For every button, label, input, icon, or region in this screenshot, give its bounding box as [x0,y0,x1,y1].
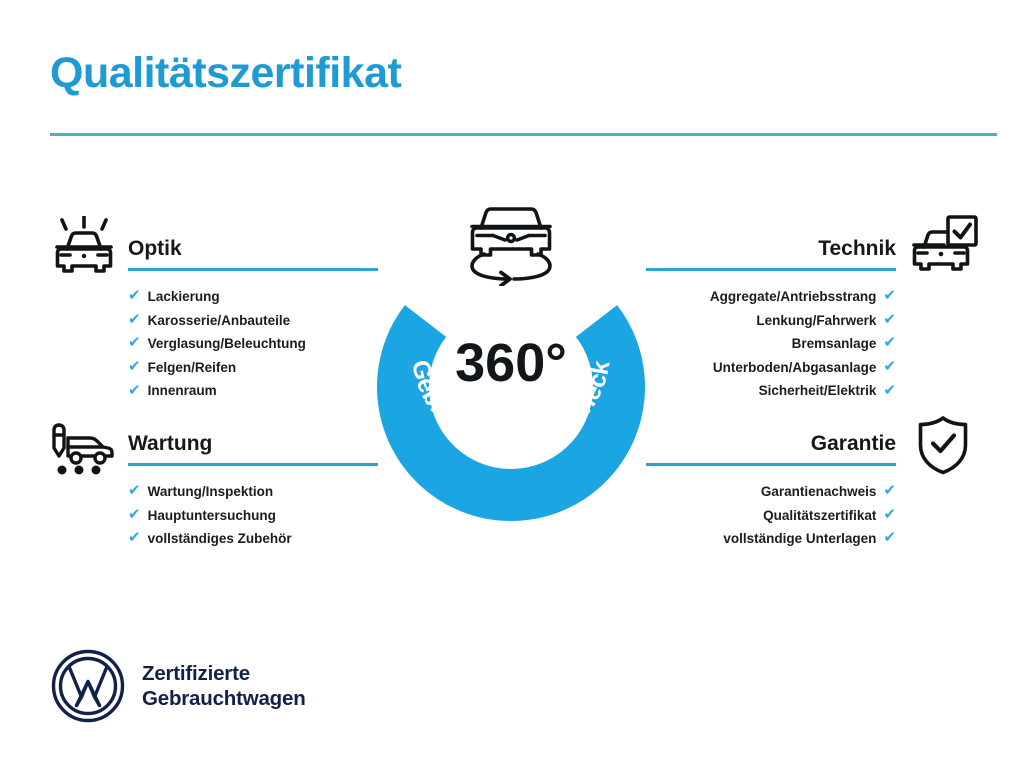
list-item: ✔ vollständiges Zubehör [128,527,428,551]
list-item-label: Lenkung/Fahrwerk [756,309,876,333]
section-wartung-divider [128,463,378,466]
car-checkbox-icon [908,214,980,276]
page-title: Qualitätszertifikat [50,50,401,97]
list-item-label: Wartung/Inspektion [148,480,274,504]
list-item: ✔ Hauptuntersuchung [128,504,428,528]
section-garantie-list: Garantienachweis ✔ Qualitätszertifikat ✔… [596,480,896,551]
section-technik-heading: Technik [596,238,896,259]
car-rotation-360-icon [452,198,570,286]
list-item-label: Hauptuntersuchung [148,504,276,528]
list-item-label: vollständiges Zubehör [148,527,292,551]
title-divider [50,133,997,136]
list-item-label: Bremsanlage [792,332,877,356]
check-icon: ✔ [128,359,141,374]
badge-number: 360° [376,336,646,390]
check-icon: ✔ [128,288,141,303]
list-item: vollständige Unterlagen ✔ [596,527,896,551]
list-item: Qualitätszertifikat ✔ [596,504,896,528]
vw-certified-line-1: Zertifizierte [142,661,306,686]
check-icon: ✔ [883,507,896,522]
list-item-label: Karosserie/Anbauteile [148,309,291,333]
list-item-label: Innenraum [148,379,217,403]
check-icon: ✔ [883,312,896,327]
qualitaetszertifikat-page: Qualitätszertifikat Optik ✔ Lac [0,0,1024,768]
car-oil-service-icon [46,418,118,480]
list-item-label: Aggregate/Antriebsstrang [710,285,877,309]
list-item-label: Sicherheit/Elektrik [759,379,877,403]
volkswagen-roundel-icon [50,648,126,724]
section-optik-heading: Optik [128,238,428,259]
vw-certified-lockup: Zertifizierte Gebrauchtwagen [50,648,306,724]
check-icon: ✔ [883,383,896,398]
car-front-shine-icon [48,216,120,278]
vw-certified-text: Zertifizierte Gebrauchtwagen [142,661,306,711]
check-icon: ✔ [128,312,141,327]
list-item: Garantienachweis ✔ [596,480,896,504]
shield-check-icon [914,414,972,476]
check-icon: ✔ [883,483,896,498]
section-garantie-divider [646,463,896,466]
list-item-label: Unterboden/Abgasanlage [713,356,877,380]
list-item-label: Verglasung/Beleuchtung [148,332,306,356]
check-icon: ✔ [883,530,896,545]
check-icon: ✔ [128,483,141,498]
check-icon: ✔ [883,359,896,374]
list-item: ✔ Wartung/Inspektion [128,480,428,504]
list-item-label: Garantienachweis [761,480,877,504]
list-item-label: vollständige Unterlagen [723,527,876,551]
list-item-label: Lackierung [148,285,220,309]
check-icon: ✔ [128,530,141,545]
section-wartung-list: ✔ Wartung/Inspektion ✔ Hauptuntersuchung… [128,480,428,551]
check-icon: ✔ [128,335,141,350]
section-optik-divider [128,268,378,271]
check-icon: ✔ [128,383,141,398]
vw-certified-line-2: Gebrauchtwagen [142,686,306,711]
list-item-label: Qualitätszertifikat [763,504,876,528]
list-item-label: Felgen/Reifen [148,356,237,380]
check-icon: ✔ [128,507,141,522]
section-technik-divider [646,268,896,271]
check-icon: ✔ [883,335,896,350]
check-icon: ✔ [883,288,896,303]
